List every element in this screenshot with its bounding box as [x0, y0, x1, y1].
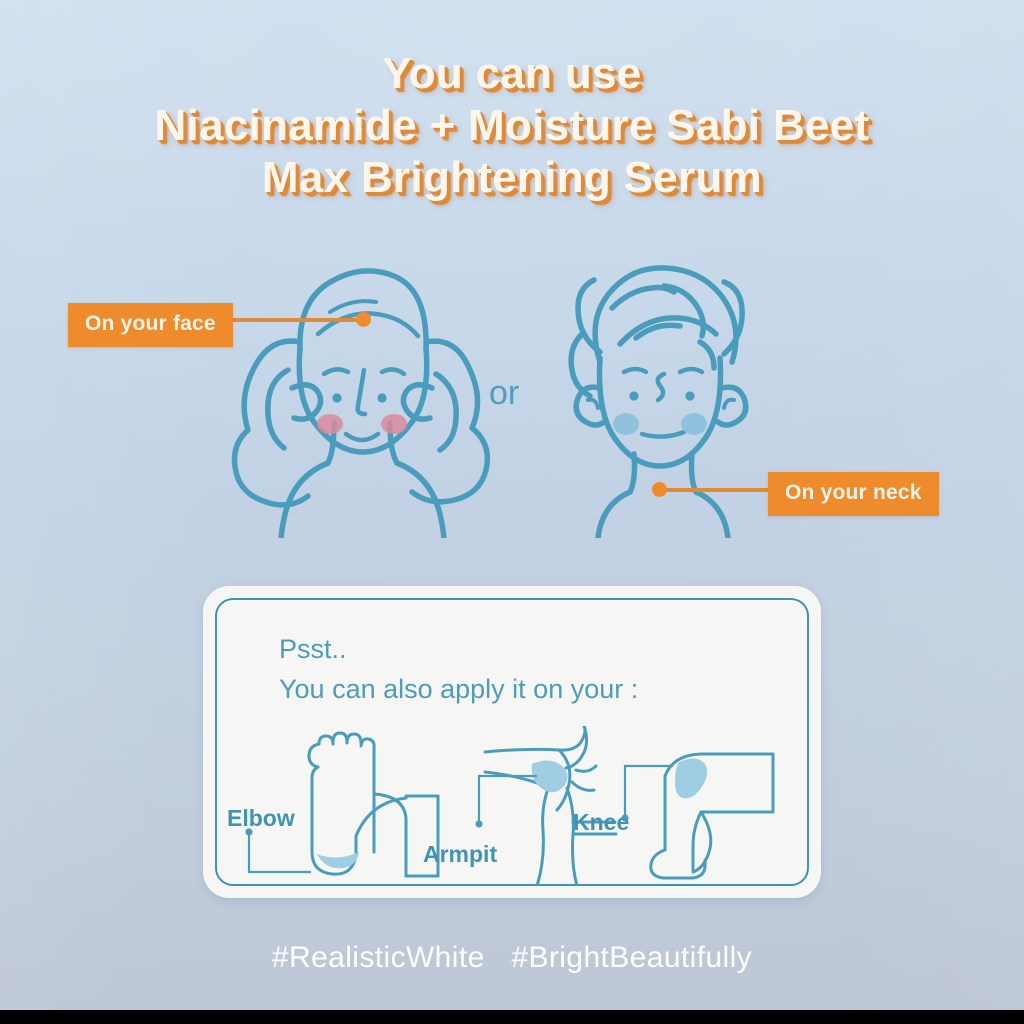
- neck-target-dot: [652, 482, 667, 497]
- woman-cheek-left: [317, 414, 343, 434]
- hashtags-row: #RealisticWhite #BrightBeautifully: [0, 941, 1024, 975]
- man-cheek-left: [613, 413, 639, 435]
- card-subheading: You can also apply it on your :: [279, 674, 638, 705]
- poster-canvas: You can use Niacinamide + Moisture Sabi …: [0, 0, 1024, 1024]
- hashtag-bright-beautifully[interactable]: #BrightBeautifully: [511, 941, 752, 974]
- face-leader-line: [228, 318, 370, 322]
- elbow-connector: [249, 832, 311, 872]
- bottom-letterbox-bar: [0, 1010, 1024, 1024]
- part-label-armpit: Armpit: [423, 841, 497, 867]
- or-separator-label: or: [489, 374, 519, 413]
- card-heading: Psst..: [279, 634, 347, 665]
- woman-cheek-right: [381, 414, 407, 434]
- neck-leader-line: [658, 488, 776, 492]
- knee-highlight: [675, 758, 707, 798]
- armpit-highlight: [532, 760, 568, 792]
- man-cheek-right: [681, 413, 707, 435]
- callout-badge-face[interactable]: On your face: [68, 303, 233, 347]
- face-target-dot: [356, 312, 371, 327]
- man-eye-left: [629, 391, 638, 400]
- armpit-connector: [479, 776, 537, 824]
- tips-card: Psst.. You can also apply it on your :: [203, 586, 821, 898]
- part-label-knee: Knee: [573, 809, 629, 835]
- body-parts-group: Elbow: [227, 726, 797, 886]
- body-parts-svg: Elbow: [227, 726, 797, 886]
- leg-knee-icon: [651, 754, 773, 878]
- arm-elbow-icon: [309, 733, 438, 876]
- callout-badge-neck[interactable]: On your neck: [768, 472, 939, 516]
- man-eye-right: [685, 391, 694, 400]
- part-label-elbow: Elbow: [227, 805, 295, 831]
- armpit-connector-dot: [475, 820, 482, 827]
- woman-eye-right: [377, 393, 386, 402]
- page-title: You can use Niacinamide + Moisture Sabi …: [0, 48, 1024, 204]
- hashtag-realistic-white[interactable]: #RealisticWhite: [272, 941, 485, 974]
- torso-armpit-icon: [485, 726, 616, 886]
- woman-eye-left: [332, 393, 341, 402]
